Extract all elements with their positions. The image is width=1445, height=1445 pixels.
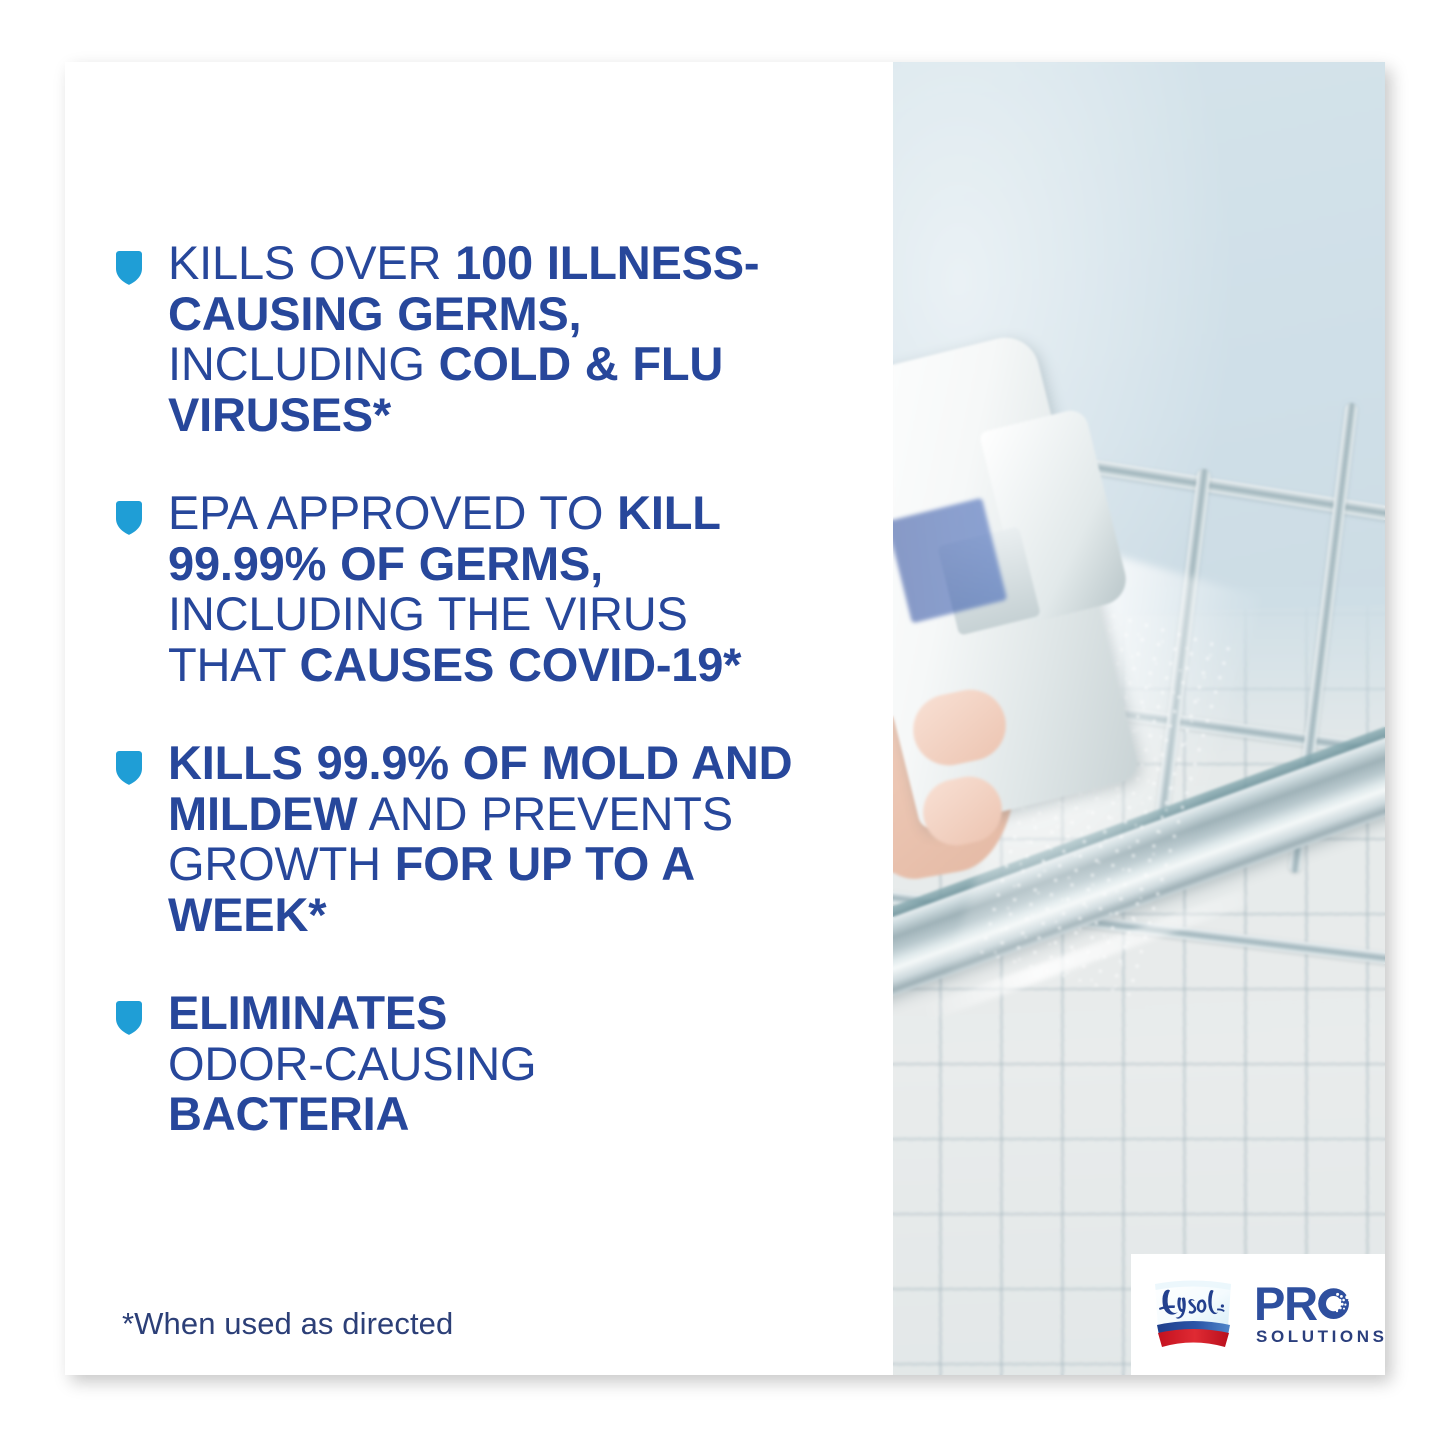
- pro-bubble-o-icon: [1316, 1284, 1353, 1321]
- shield-icon: [113, 1000, 145, 1036]
- benefits-list: KILLS OVER 100 ILLNESS-CAUSING GERMS, IN…: [113, 238, 883, 1140]
- shield-icon: [113, 500, 145, 536]
- product-photo: PR: [893, 62, 1385, 1375]
- footnote-text: *When used as directed: [122, 1306, 453, 1342]
- shield-icon: [113, 250, 145, 286]
- pro-wordmark-row: PR: [1254, 1282, 1377, 1326]
- benefit-item: EPA APPROVED TO KILL 99.99% OF GERMS, IN…: [113, 488, 883, 690]
- benefit-text: KILLS 99.9% OF MOLD AND MILDEW AND PREVE…: [168, 738, 854, 940]
- benefit-item: KILLS 99.9% OF MOLD AND MILDEW AND PREVE…: [113, 738, 883, 940]
- content-panel: KILLS OVER 100 ILLNESS-CAUSING GERMS, IN…: [65, 62, 893, 1375]
- product-benefits-card: KILLS OVER 100 ILLNESS-CAUSING GERMS, IN…: [65, 62, 1385, 1375]
- lysol-logo: [1145, 1275, 1241, 1355]
- solutions-wordmark: SOLUTIONS: [1254, 1327, 1377, 1347]
- brand-logo-box: PR: [1131, 1254, 1385, 1375]
- benefit-item: ELIMINATES ODOR-CAUSING BACTERIA: [113, 988, 883, 1140]
- benefit-text: ELIMINATES ODOR-CAUSING BACTERIA: [168, 988, 598, 1140]
- benefit-text: KILLS OVER 100 ILLNESS-CAUSING GERMS, IN…: [168, 238, 840, 440]
- pro-wordmark: PR: [1254, 1282, 1317, 1326]
- pro-solutions-logo: PR: [1254, 1282, 1377, 1348]
- benefit-text: EPA APPROVED TO KILL 99.99% OF GERMS, IN…: [168, 488, 802, 690]
- shield-icon: [113, 750, 145, 786]
- benefit-item: KILLS OVER 100 ILLNESS-CAUSING GERMS, IN…: [113, 238, 883, 440]
